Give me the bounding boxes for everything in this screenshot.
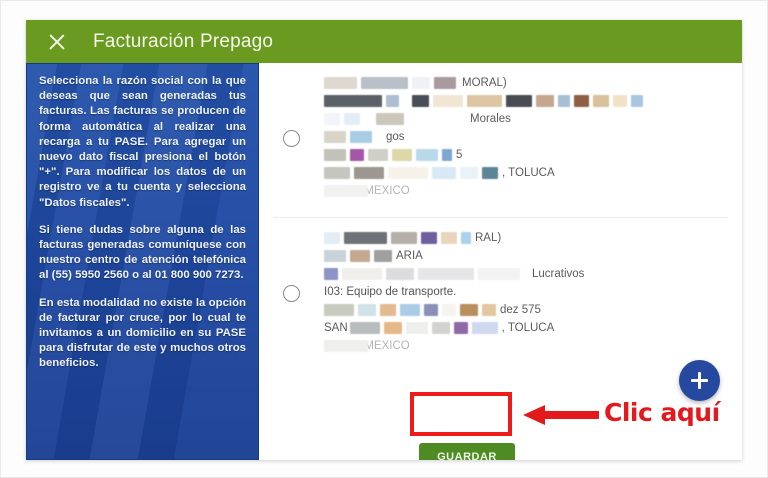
redaction-block xyxy=(324,95,382,107)
redaction-block xyxy=(344,232,387,244)
option-2-line-1: RAL) xyxy=(324,230,728,245)
redaction-block xyxy=(408,113,464,125)
option-1-line-1-text: MORAL) xyxy=(462,77,507,89)
option-2-line-6-text: , TOLUCA xyxy=(502,322,555,334)
redaction-block xyxy=(364,113,372,125)
redaction-block xyxy=(593,95,609,107)
redaction-block xyxy=(461,232,471,244)
redaction-block xyxy=(441,232,457,244)
redaction-block xyxy=(324,113,340,125)
redaction-block xyxy=(442,149,452,161)
option-2-line-2-text: ARIA xyxy=(396,250,423,262)
info-paragraph-2: Si tiene dudas sobre alguna de las factu… xyxy=(39,223,246,284)
option-1-line-6-text: , TOLUCA xyxy=(502,167,555,179)
redaction-block xyxy=(324,232,340,244)
option-2-line-5-text: dez 575 xyxy=(500,304,541,316)
redaction-block xyxy=(324,185,368,197)
redaction-block xyxy=(432,167,456,179)
option-2-line-7: 50220, MEXICO xyxy=(324,338,728,353)
redaction-block xyxy=(358,304,376,316)
modal-header: Facturación Prepago xyxy=(26,20,742,63)
option-1-line-6: , TOLUCA xyxy=(324,165,728,180)
redaction-block xyxy=(324,250,346,262)
modal-body: Selecciona la razón social con la que de… xyxy=(26,63,742,460)
options-list: MORAL) xyxy=(259,63,742,460)
info-paragraph-1: Selecciona la razón social con la que de… xyxy=(39,74,246,211)
option-1-line-4-text: gos xyxy=(386,131,405,143)
redaction-block xyxy=(324,77,357,89)
redaction-block xyxy=(324,167,350,179)
redaction-block xyxy=(472,322,498,334)
redaction-block xyxy=(416,149,438,161)
option-1-line-3-text: Morales xyxy=(470,113,511,125)
redaction-block xyxy=(324,131,346,143)
redaction-block xyxy=(342,268,382,280)
radio-option-2[interactable] xyxy=(283,285,300,302)
redaction-block xyxy=(460,304,478,316)
redaction-block xyxy=(412,95,429,107)
add-fiscal-data-button[interactable] xyxy=(679,360,720,401)
redaction-block xyxy=(384,322,402,334)
redaction-block xyxy=(388,167,428,179)
redaction-block xyxy=(506,95,532,107)
options-divider xyxy=(273,217,728,218)
list-item[interactable]: MORAL) xyxy=(273,69,728,209)
info-paragraph-3: En esta modalidad no existe la opción de… xyxy=(39,296,246,372)
redaction-block xyxy=(412,77,430,89)
redaction-block xyxy=(386,95,399,107)
option-1-line-4: gos xyxy=(324,129,728,144)
redaction-block xyxy=(454,322,468,334)
redaction-block xyxy=(478,268,520,280)
redaction-block xyxy=(350,322,380,334)
redaction-block xyxy=(631,95,643,107)
redaction-block xyxy=(376,113,404,125)
redaction-block xyxy=(574,95,589,107)
option-1-lines: MORAL) xyxy=(324,75,728,201)
redaction-block xyxy=(433,95,463,107)
modal-title: Facturación Prepago xyxy=(93,31,273,53)
list-item[interactable]: RAL) ARIA Lucrativos xyxy=(273,224,728,364)
redaction-block xyxy=(613,95,627,107)
save-button[interactable]: GUARDAR xyxy=(419,443,515,461)
redaction-block xyxy=(344,113,360,125)
redaction-block xyxy=(406,322,428,334)
redaction-block xyxy=(361,77,408,89)
redaction-block xyxy=(380,304,396,316)
redaction-block xyxy=(418,268,474,280)
redaction-block xyxy=(391,232,417,244)
option-2-line-6: SAN , TOLUCA xyxy=(324,320,728,335)
redaction-block xyxy=(442,304,456,316)
option-1-line-7: 50220, MEXICO xyxy=(324,183,728,198)
redaction-block xyxy=(460,167,478,179)
redaction-block xyxy=(432,322,450,334)
redaction-block xyxy=(374,250,392,262)
redaction-block xyxy=(324,304,354,316)
option-2-line-3: Lucrativos xyxy=(324,266,728,281)
facturacion-modal: Facturación Prepago Selecciona la razón … xyxy=(26,20,742,460)
radio-option-1[interactable] xyxy=(283,130,300,147)
redaction-block xyxy=(400,304,420,316)
save-button-container: GUARDAR xyxy=(414,441,520,460)
option-2-line-1-text: RAL) xyxy=(475,232,501,244)
redaction-block xyxy=(392,149,412,161)
option-2-line-5: dez 575 xyxy=(324,302,728,317)
redaction-block xyxy=(421,232,437,244)
option-2-line-4-text: I03: Equipo de transporte. xyxy=(324,286,456,298)
redaction-block xyxy=(350,250,370,262)
redaction-block xyxy=(482,167,498,179)
redaction-block xyxy=(403,95,408,107)
option-2-line-2: ARIA xyxy=(324,248,728,263)
redaction-block xyxy=(536,95,554,107)
redaction-block xyxy=(434,77,456,89)
redaction-block xyxy=(324,149,346,161)
redaction-block xyxy=(350,149,364,161)
option-2-line-3-text: Lucrativos xyxy=(532,268,584,280)
close-x-icon[interactable] xyxy=(46,31,68,53)
option-2-line-6-prefix: SAN xyxy=(324,322,348,334)
option-2-lines: RAL) ARIA Lucrativos xyxy=(324,230,728,356)
redaction-block xyxy=(467,95,502,107)
redaction-block xyxy=(354,167,384,179)
redaction-block xyxy=(482,304,496,316)
info-panel: Selecciona la razón social con la que de… xyxy=(26,63,259,460)
redaction-block xyxy=(386,268,414,280)
option-1-line-1: MORAL) xyxy=(324,75,728,90)
redaction-block xyxy=(324,268,338,280)
option-1-line-5: 5 xyxy=(324,147,728,162)
option-1-line-5-text: 5 xyxy=(456,149,462,161)
option-2-line-4: I03: Equipo de transporte. xyxy=(324,284,728,299)
option-1-line-3: Morales xyxy=(324,111,728,126)
redaction-block xyxy=(424,304,438,316)
redaction-block xyxy=(368,149,388,161)
redaction-block xyxy=(350,131,372,143)
option-1-line-2 xyxy=(324,93,728,108)
redaction-block xyxy=(558,95,570,107)
redaction-block xyxy=(324,340,368,352)
